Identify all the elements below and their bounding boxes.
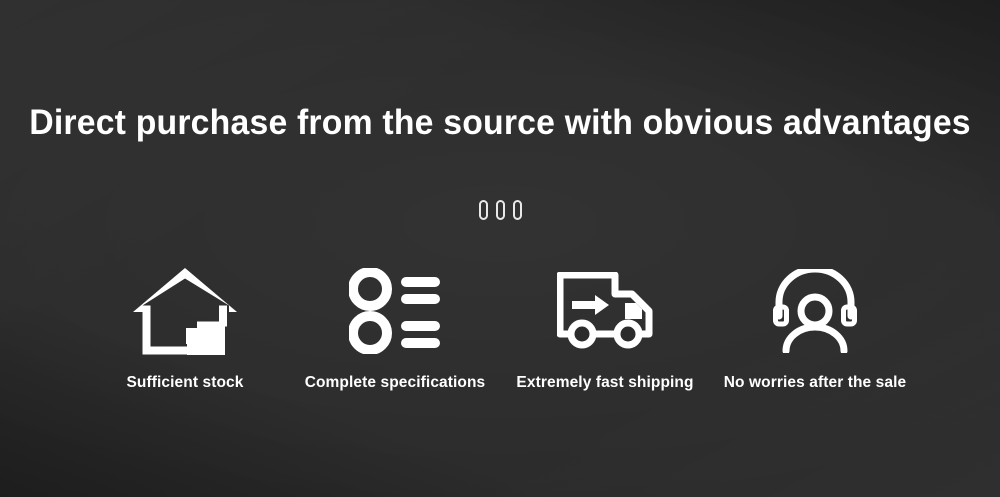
ornamental-divider [0, 199, 1000, 221]
feature-label: Complete specifications [305, 374, 486, 392]
feature-label: Extremely fast shipping [516, 374, 693, 392]
feature-item-after-sale-support: No worries after the sale [710, 262, 920, 392]
page-title: Direct purchase from the source with obv… [18, 103, 983, 143]
divider-pill-icon [496, 200, 505, 220]
feature-label: No worries after the sale [724, 374, 907, 392]
customer-support-headset-icon [772, 262, 858, 360]
feature-label: Sufficient stock [126, 374, 243, 392]
feature-item-complete-specifications: Complete specifications [290, 262, 500, 392]
divider-pill-icon [479, 200, 488, 220]
delivery-truck-icon [557, 262, 653, 360]
specification-list-icon [349, 262, 441, 360]
promo-banner: Direct purchase from the source with obv… [0, 0, 1000, 497]
feature-item-fast-shipping: Extremely fast shipping [500, 262, 710, 392]
divider-pill-icon [513, 200, 522, 220]
feature-list: Sufficient stock Complete specificat [80, 262, 920, 432]
warehouse-stock-icon [131, 262, 239, 360]
feature-item-sufficient-stock: Sufficient stock [80, 262, 290, 392]
